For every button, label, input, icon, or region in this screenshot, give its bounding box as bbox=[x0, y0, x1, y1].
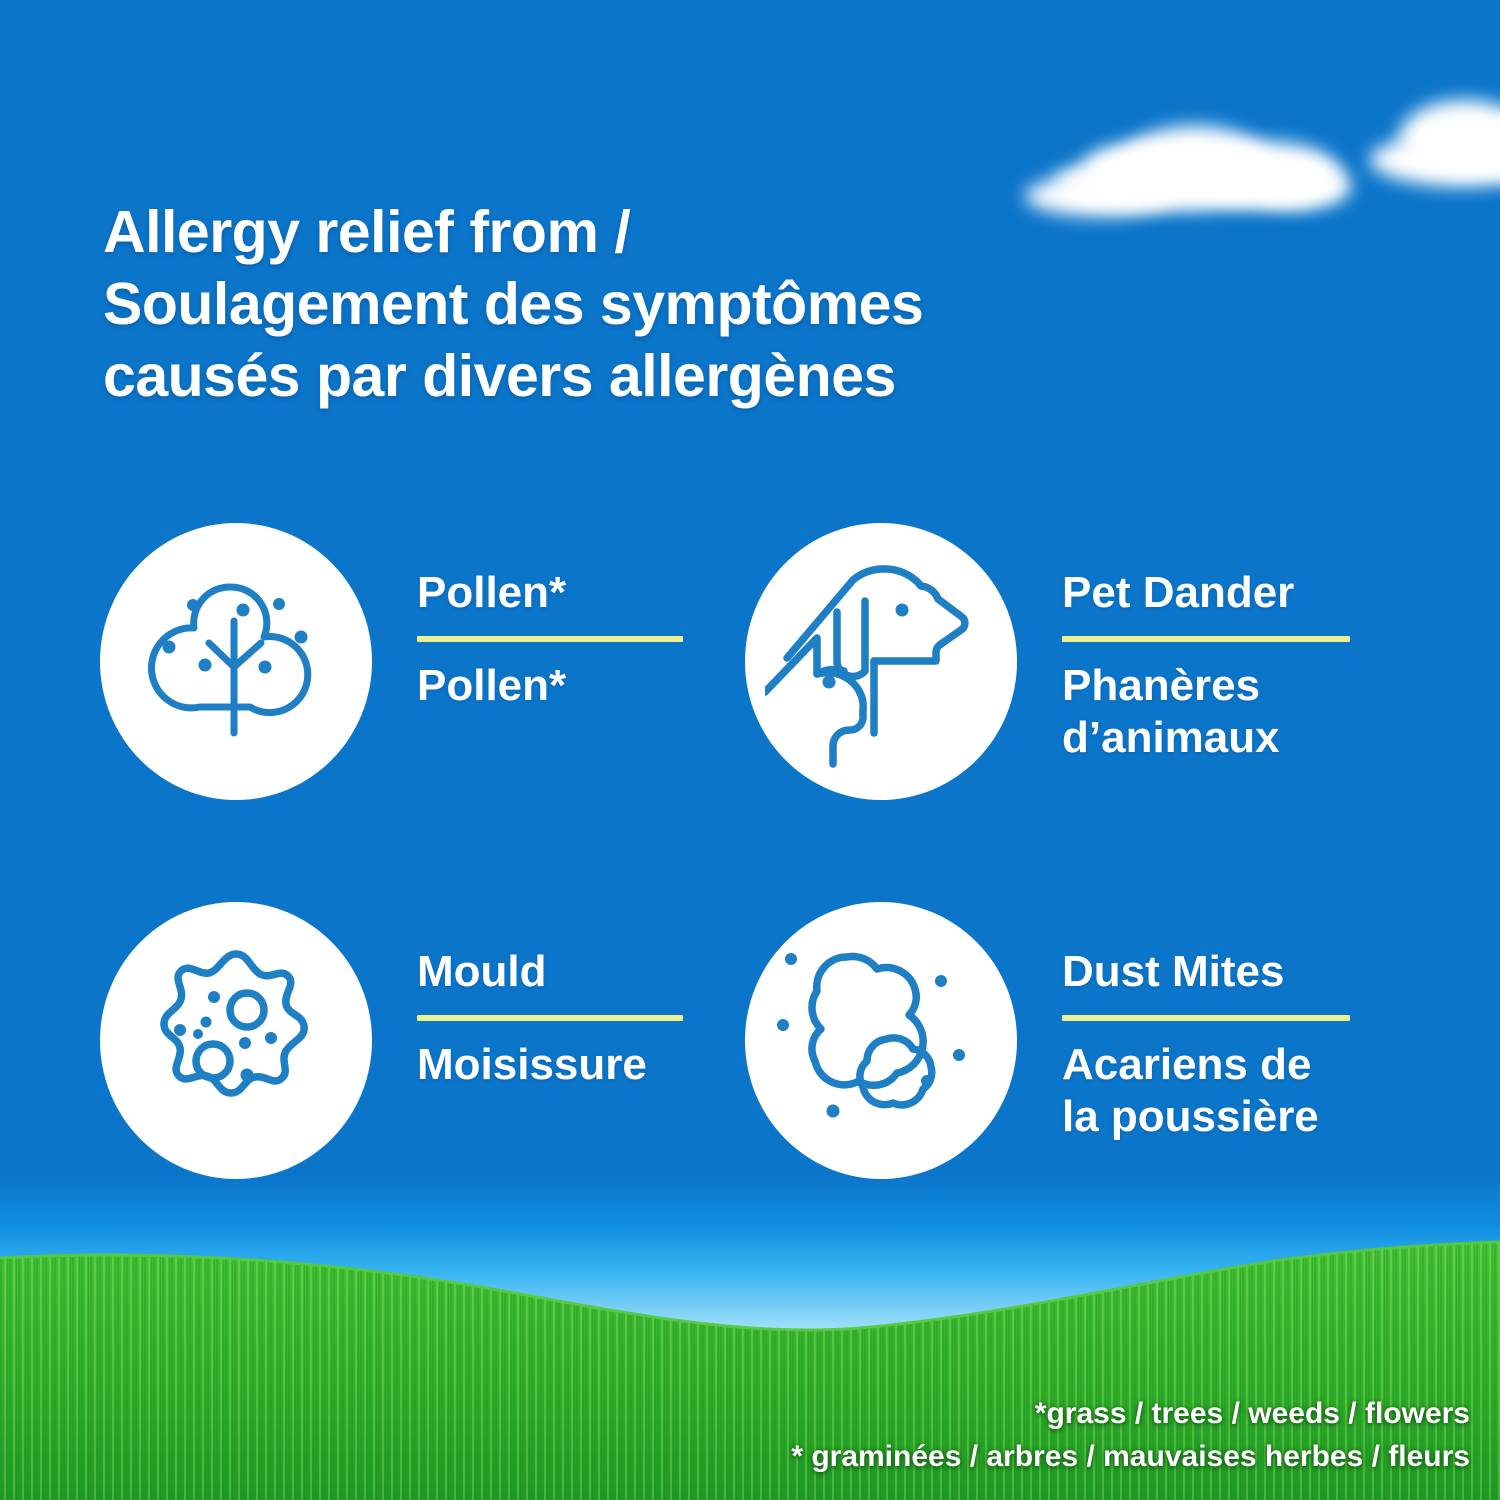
allergen-labels: Pet Dander Phanères d’animaux bbox=[1062, 523, 1350, 764]
mould-spore-icon bbox=[125, 930, 347, 1152]
allergen-label-fr-line2: d’animaux bbox=[1062, 712, 1350, 764]
pet-dander-badge bbox=[745, 523, 1017, 800]
allergen-labels: Pollen* Pollen* bbox=[417, 523, 683, 712]
allergen-label-fr-line2: la poussière bbox=[1062, 1091, 1350, 1143]
dog-cat-icon bbox=[765, 546, 997, 778]
mould-badge bbox=[100, 902, 372, 1179]
allergen-labels: Dust Mites Acariens de la poussière bbox=[1062, 902, 1350, 1143]
allergen-label-en: Pet Dander bbox=[1062, 567, 1350, 619]
allergen-item-pollen: Pollen* Pollen* bbox=[100, 523, 683, 800]
allergen-label-fr-line1: Phanères bbox=[1062, 660, 1350, 712]
footnote-line-en: *grass / trees / weeds / flowers bbox=[791, 1392, 1470, 1435]
allergen-item-pet-dander: Pet Dander Phanères d’animaux bbox=[745, 523, 1350, 800]
label-divider bbox=[1062, 1015, 1350, 1021]
allergen-label-fr-line1: Moisissure bbox=[417, 1039, 683, 1091]
ad-banner: Allergy relief from / Soulagement des sy… bbox=[0, 0, 1500, 1500]
footnote: *grass / trees / weeds / flowers * grami… bbox=[791, 1392, 1470, 1478]
allergen-label-en: Mould bbox=[417, 946, 683, 998]
label-divider bbox=[417, 1015, 683, 1021]
allergen-item-mould: Mould Moisissure bbox=[100, 902, 683, 1179]
allergen-label-fr: Moisissure bbox=[417, 1039, 683, 1091]
allergen-label-fr-line1: Acariens de bbox=[1062, 1039, 1350, 1091]
allergen-labels: Mould Moisissure bbox=[417, 902, 683, 1091]
footnote-line-fr: * graminées / arbres / mauvaises herbes … bbox=[791, 1435, 1470, 1478]
allergen-label-en: Dust Mites bbox=[1062, 946, 1350, 998]
tree-pollen-badge bbox=[100, 523, 372, 800]
allergen-label-fr-line1: Pollen* bbox=[417, 660, 683, 712]
allergen-label-en: Pollen* bbox=[417, 567, 683, 619]
dust-cluster-icon bbox=[767, 927, 995, 1155]
label-divider bbox=[417, 636, 683, 642]
tree-pollen-icon bbox=[121, 547, 351, 777]
label-divider bbox=[1062, 636, 1350, 642]
allergen-label-fr: Pollen* bbox=[417, 660, 683, 712]
allergen-item-dust-mites: Dust Mites Acariens de la poussière bbox=[745, 902, 1350, 1179]
dust-mites-badge bbox=[745, 902, 1017, 1179]
allergen-label-fr: Phanères d’animaux bbox=[1062, 660, 1350, 764]
allergen-label-fr: Acariens de la poussière bbox=[1062, 1039, 1350, 1143]
